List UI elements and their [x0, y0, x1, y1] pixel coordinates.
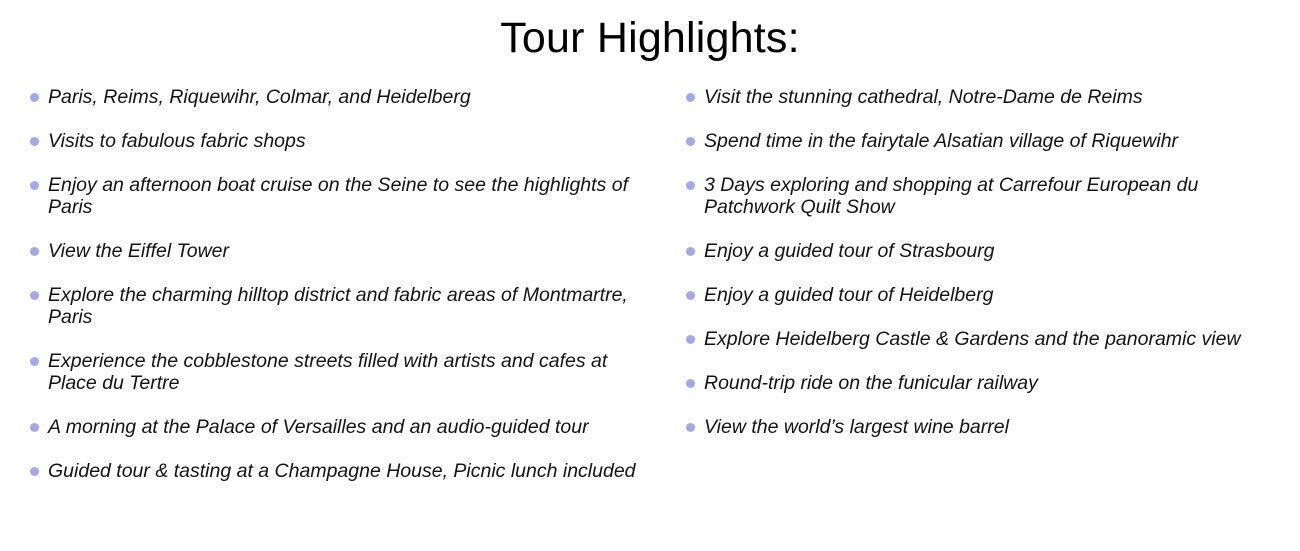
bullet-dot-icon — [686, 335, 695, 344]
list-item-label: Enjoy an afternoon boat cruise on the Se… — [48, 174, 655, 218]
list-item-label: View the world’s largest wine barrel — [704, 416, 1266, 438]
list-item-label: Experience the cobblestone streets fille… — [48, 350, 655, 394]
bullet-dot-icon — [30, 357, 39, 366]
page-title: Tour Highlights: — [0, 10, 1300, 66]
list-item: Enjoy an afternoon boat cruise on the Se… — [30, 174, 655, 218]
highlights-columns: Paris, Reims, Riquewihr, Colmar, and Hei… — [0, 86, 1300, 551]
list-item: Paris, Reims, Riquewihr, Colmar, and Hei… — [30, 86, 655, 108]
list-item-label: Round-trip ride on the funicular railway — [704, 372, 1266, 394]
list-item-label: Visit the stunning cathedral, Notre-Dame… — [704, 86, 1266, 108]
list-item: View the Eiffel Tower — [30, 240, 655, 262]
bullet-dot-icon — [30, 423, 39, 432]
list-item-label: Enjoy a guided tour of Strasbourg — [704, 240, 1266, 262]
list-item: Enjoy a guided tour of Strasbourg — [686, 240, 1266, 262]
bullet-dot-icon — [686, 247, 695, 256]
list-item-label: A morning at the Palace of Versailles an… — [48, 416, 655, 438]
bullet-dot-icon — [30, 467, 39, 476]
bullet-dot-icon — [30, 247, 39, 256]
bullet-dot-icon — [686, 379, 695, 388]
list-item: Spend time in the fairytale Alsatian vil… — [686, 130, 1266, 152]
bullet-dot-icon — [30, 291, 39, 300]
bullet-dot-icon — [30, 181, 39, 190]
list-item-label: Guided tour & tasting at a Champagne Hou… — [48, 460, 655, 482]
left-bullet-list: Paris, Reims, Riquewihr, Colmar, and Hei… — [30, 86, 655, 482]
list-item: A morning at the Palace of Versailles an… — [30, 416, 655, 438]
list-item-label: Enjoy a guided tour of Heidelberg — [704, 284, 1266, 306]
bullet-dot-icon — [686, 291, 695, 300]
bullet-dot-icon — [686, 181, 695, 190]
list-item-label: Explore the charming hilltop district an… — [48, 284, 655, 328]
right-bullet-list: Visit the stunning cathedral, Notre-Dame… — [686, 86, 1266, 438]
list-item: Experience the cobblestone streets fille… — [30, 350, 655, 394]
list-item-label: Visits to fabulous fabric shops — [48, 130, 655, 152]
list-item-label: 3 Days exploring and shopping at Carrefo… — [704, 174, 1266, 218]
list-item: Enjoy a guided tour of Heidelberg — [686, 284, 1266, 306]
slide-canvas: Tour Highlights: Paris, Reims, Riquewihr… — [0, 0, 1300, 551]
list-item: Explore Heidelberg Castle & Gardens and … — [686, 328, 1266, 350]
list-item: Round-trip ride on the funicular railway — [686, 372, 1266, 394]
bullet-dot-icon — [686, 93, 695, 102]
bullet-dot-icon — [30, 137, 39, 146]
list-item: Explore the charming hilltop district an… — [30, 284, 655, 328]
bullet-dot-icon — [686, 423, 695, 432]
bullet-dot-icon — [686, 137, 695, 146]
list-item-label: Paris, Reims, Riquewihr, Colmar, and Hei… — [48, 86, 655, 108]
list-item: View the world’s largest wine barrel — [686, 416, 1266, 438]
list-item: Visit the stunning cathedral, Notre-Dame… — [686, 86, 1266, 108]
list-item: Visits to fabulous fabric shops — [30, 130, 655, 152]
list-item-label: Spend time in the fairytale Alsatian vil… — [704, 130, 1266, 152]
list-item: Guided tour & tasting at a Champagne Hou… — [30, 460, 655, 482]
right-column: Visit the stunning cathedral, Notre-Dame… — [686, 86, 1266, 460]
list-item-label: Explore Heidelberg Castle & Gardens and … — [704, 328, 1266, 350]
left-column: Paris, Reims, Riquewihr, Colmar, and Hei… — [30, 86, 655, 504]
list-item: 3 Days exploring and shopping at Carrefo… — [686, 174, 1266, 218]
list-item-label: View the Eiffel Tower — [48, 240, 655, 262]
bullet-dot-icon — [30, 93, 39, 102]
